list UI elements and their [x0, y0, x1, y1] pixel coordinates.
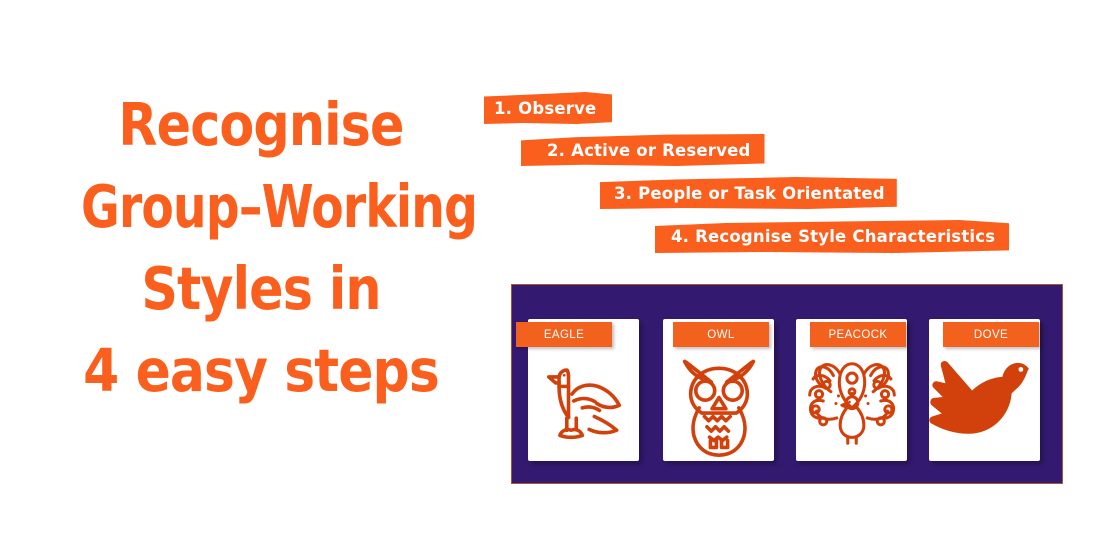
style-card-owl-label: OWL — [673, 322, 769, 347]
style-card-peacock-label: PEACOCK — [810, 322, 906, 347]
eagle-icon — [528, 345, 639, 457]
page-title: Recognise Group–Working Styles in 4 easy… — [36, 84, 486, 412]
style-card-owl: OWL — [663, 319, 774, 461]
page-title-line-3: Styles in — [68, 248, 455, 330]
style-card-eagle: EAGLE — [528, 319, 639, 461]
styles-panel: EAGLE OWL — [511, 284, 1063, 484]
step-banner-2: 2. Active or Reserved — [521, 134, 765, 166]
page-title-line-4: 4 easy steps — [63, 330, 459, 412]
step-banner-4-label: 4. Recognise Style Characteristics — [671, 227, 995, 246]
dove-icon — [929, 341, 1040, 453]
step-banner-2-label: 2. Active or Reserved — [547, 141, 751, 160]
peacock-icon — [796, 345, 907, 457]
page-title-line-1: Recognise — [68, 84, 455, 166]
style-card-eagle-label: EAGLE — [516, 322, 612, 347]
style-card-peacock: PEACOCK — [796, 319, 907, 461]
step-banner-1-label: 1. Observe — [494, 99, 596, 118]
step-banner-3-label: 3. People or Task Orientated — [614, 184, 885, 203]
style-card-dove: DOVE — [929, 319, 1040, 461]
step-banner-4: 4. Recognise Style Characteristics — [655, 220, 1009, 253]
owl-icon — [663, 345, 774, 457]
step-banner-1: 1. Observe — [484, 92, 612, 124]
page-title-line-2: Group–Working — [81, 166, 441, 248]
step-banner-3: 3. People or Task Orientated — [600, 177, 897, 209]
